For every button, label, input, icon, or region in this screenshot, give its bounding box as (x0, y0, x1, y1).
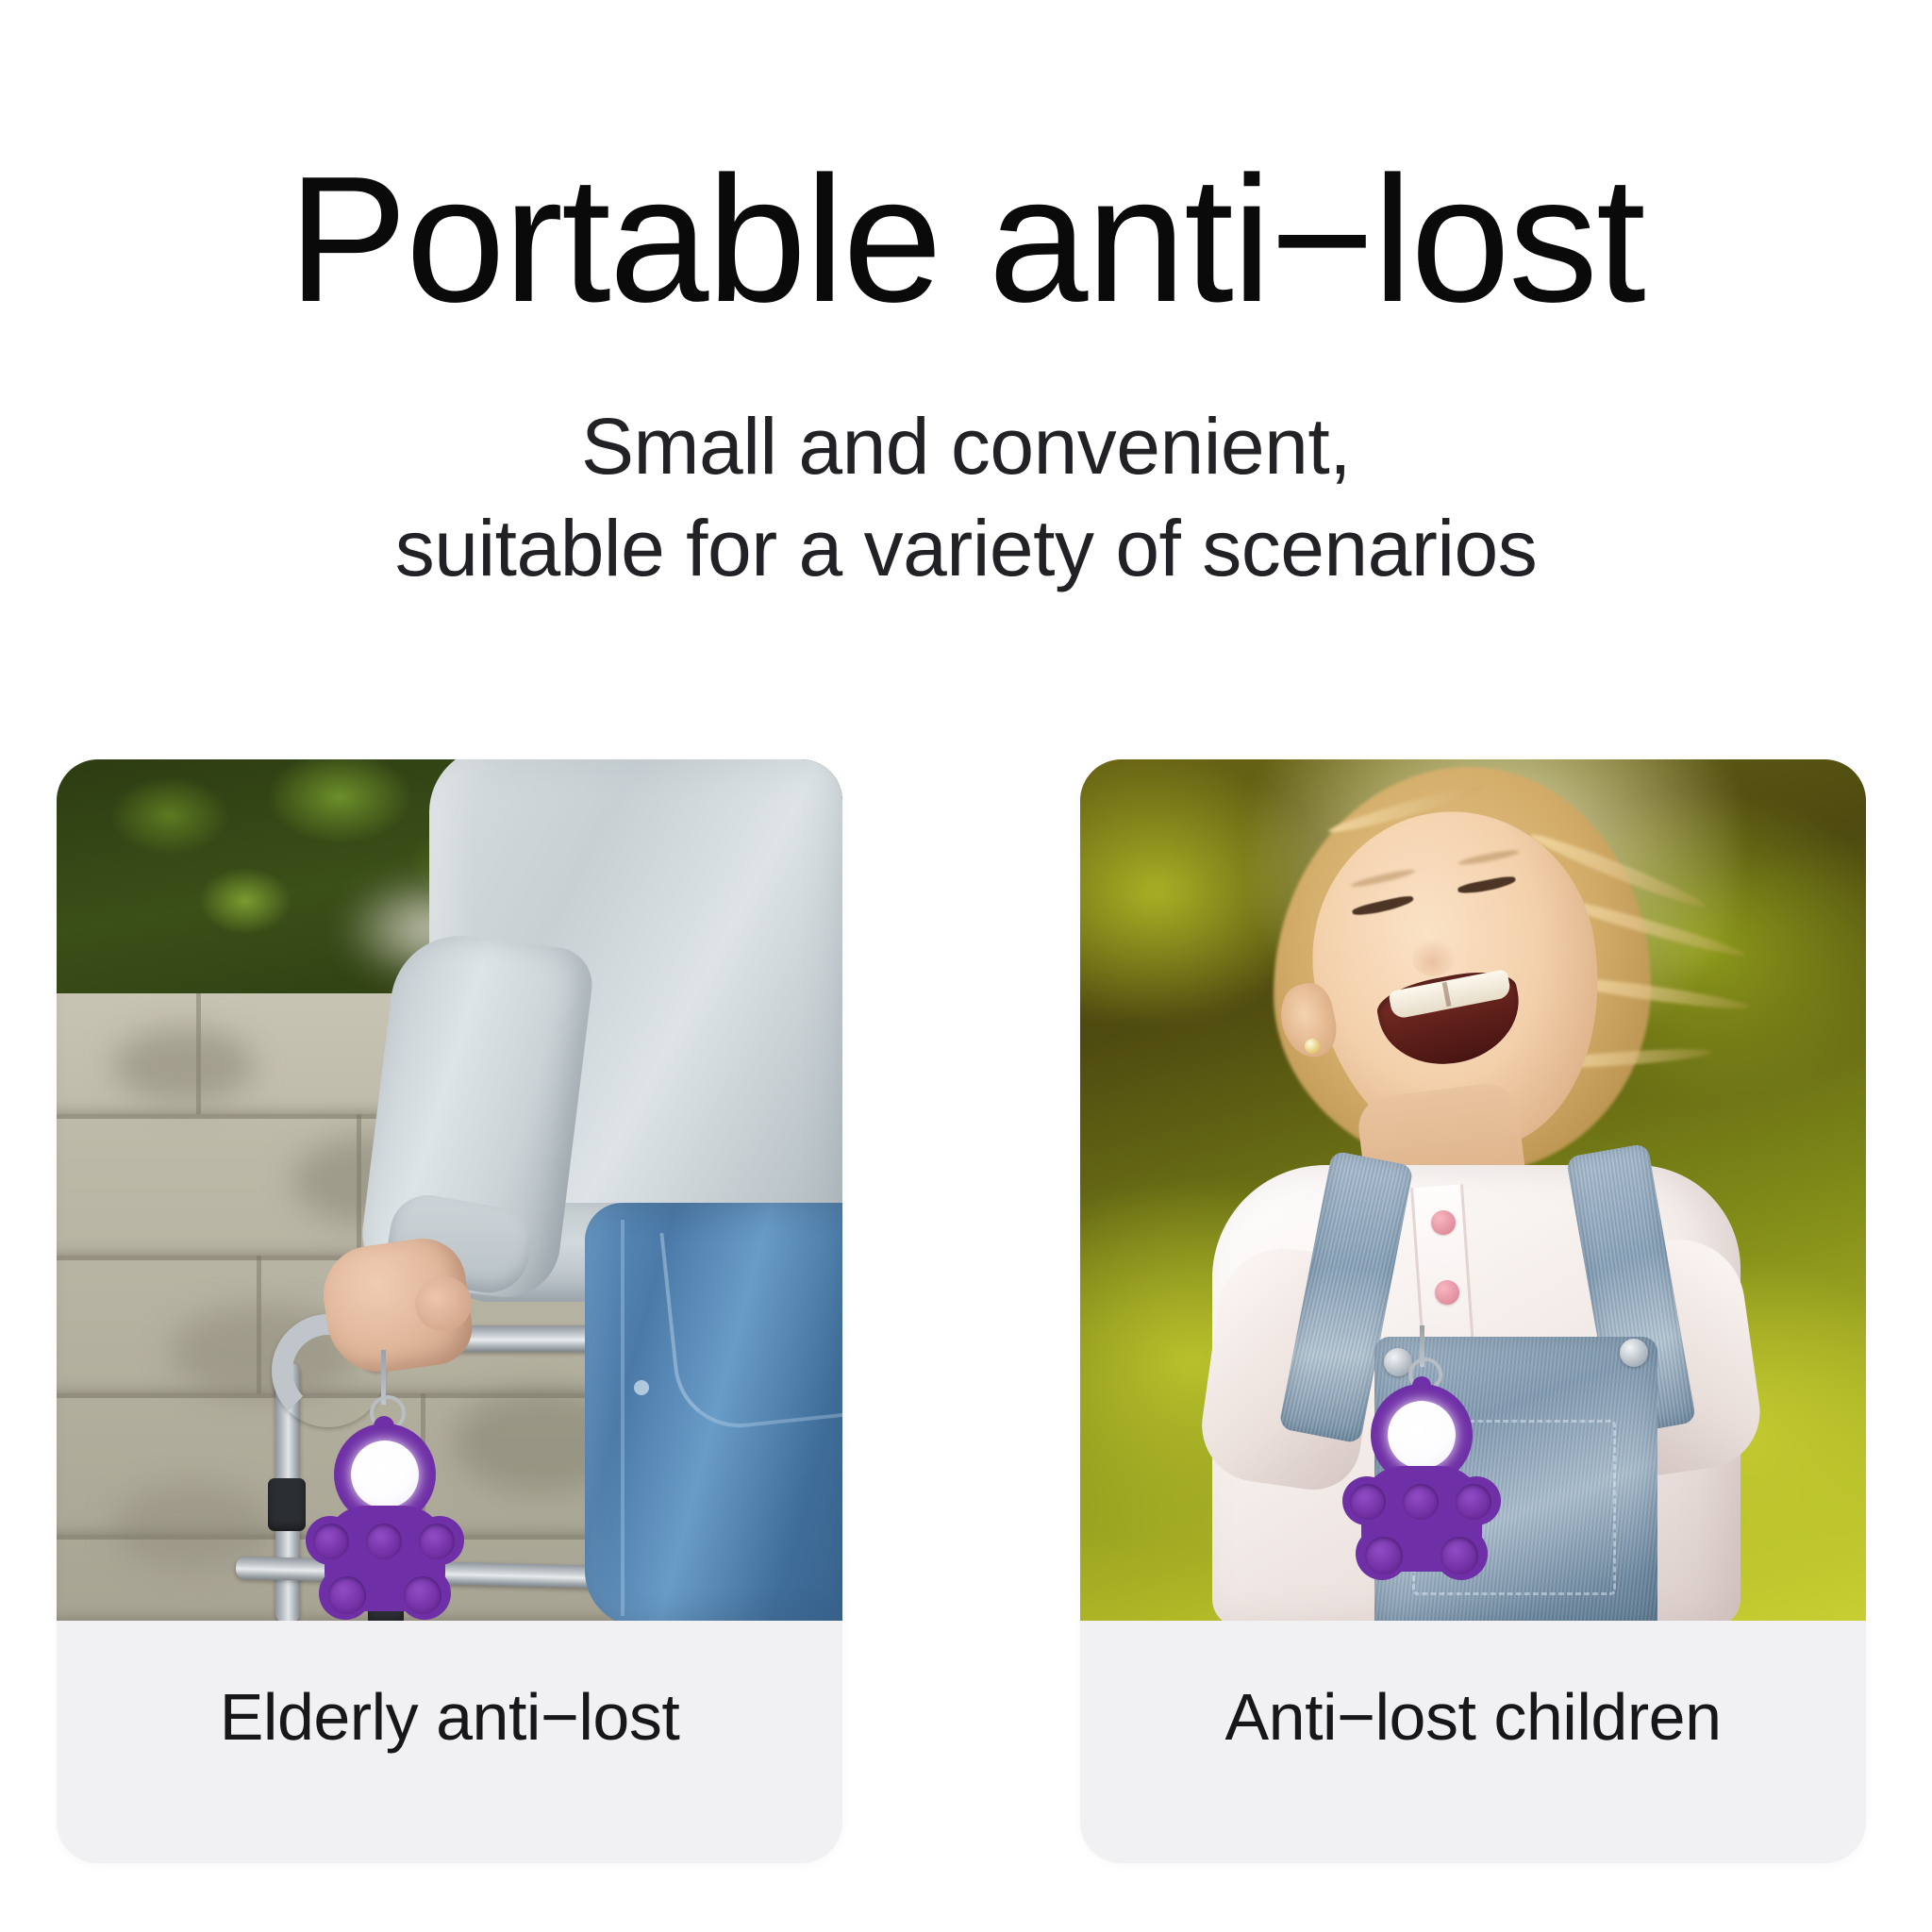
anti-lost-keychain-product (300, 1350, 479, 1621)
keychain-bubble-3 (1456, 1484, 1491, 1520)
keychain-light-dome (351, 1441, 419, 1508)
keychain-bubble-1 (1350, 1484, 1386, 1520)
keychain-bubble-5 (1441, 1537, 1478, 1574)
photo-elderly-with-walker (57, 759, 842, 1621)
jeans-rivet (634, 1380, 649, 1395)
keychain-bubble-3 (419, 1524, 455, 1559)
tshirt-button (1431, 1210, 1456, 1235)
scenario-card-elderly[interactable]: Elderly anti−lost (57, 759, 842, 1863)
keychain-bubble-2 (1403, 1484, 1439, 1520)
keychain-bubble-4 (328, 1576, 366, 1614)
keychain-bubble-4 (1365, 1537, 1403, 1574)
overall-buckle-right (1620, 1339, 1648, 1367)
earring (1305, 1039, 1320, 1054)
scenario-card-grid: Elderly anti−lost (0, 0, 1932, 1932)
scenario-card-children[interactable]: Anti−lost children (1080, 759, 1866, 1863)
keychain-bubble-1 (313, 1524, 349, 1559)
photo-child-with-keychain (1080, 759, 1866, 1621)
keychain-light-dome (1388, 1401, 1456, 1469)
keychain-bubble-2 (366, 1524, 402, 1559)
caption-children: Anti−lost children (1080, 1679, 1866, 1755)
keychain-bubble-5 (404, 1576, 441, 1614)
tshirt-button (1435, 1280, 1459, 1305)
caption-panel-children: Anti−lost children (1080, 1621, 1866, 1863)
caption-panel-elderly: Elderly anti−lost (57, 1621, 842, 1863)
jeans-seam (621, 1220, 625, 1616)
anti-lost-keychain-product (1342, 1350, 1512, 1621)
jeans-pocket (659, 1215, 842, 1434)
caption-elderly: Elderly anti−lost (57, 1679, 842, 1755)
